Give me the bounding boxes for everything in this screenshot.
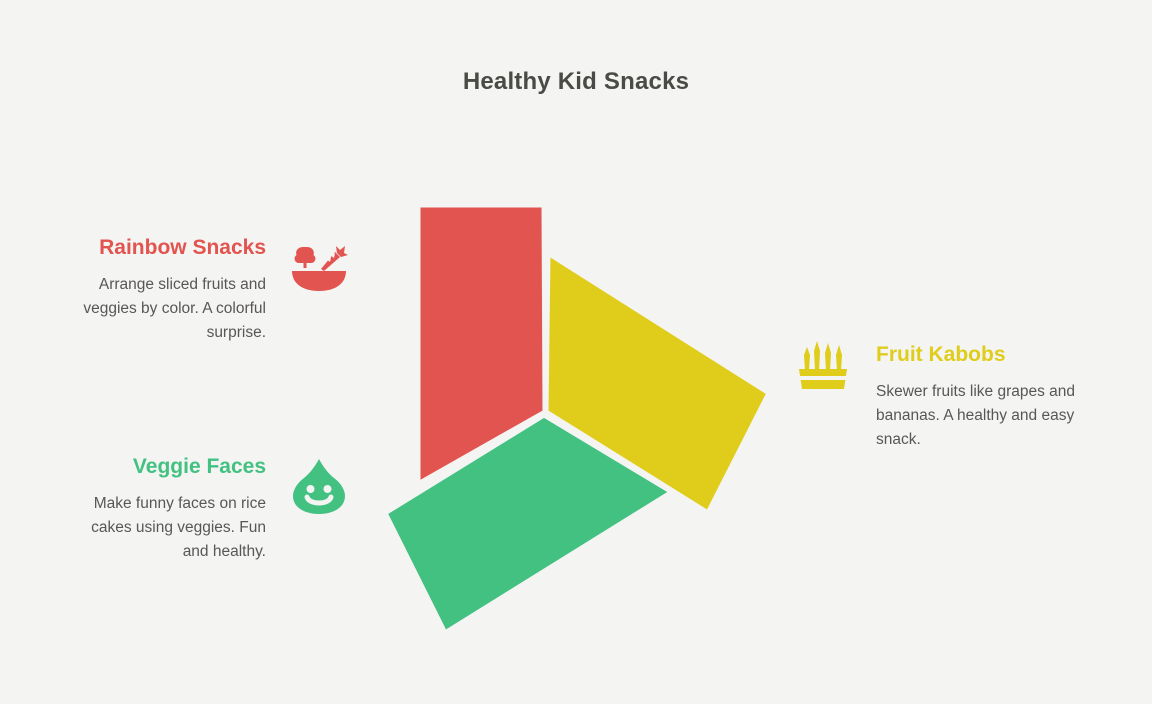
face-veggie-faces (385, 415, 672, 633)
page-title: Healthy Kid Snacks (0, 68, 1152, 96)
item-veggie-faces-heading: Veggie Faces (133, 455, 266, 478)
item-fruit-kabobs[interactable]: Fruit Kabobs Skewer fruits like grapes a… (792, 335, 1122, 452)
item-veggie-faces-description: Make funny faces on rice cakes using veg… (84, 492, 266, 564)
smiling-onion-icon (288, 455, 350, 517)
item-rainbow-snacks-heading: Rainbow Snacks (99, 236, 266, 259)
item-rainbow-snacks-text: Rainbow Snacks Arrange sliced fruits and… (54, 236, 266, 345)
item-fruit-kabobs-heading: Fruit Kabobs (876, 343, 1006, 366)
item-rainbow-snacks-description: Arrange sliced fruits and veggies by col… (54, 273, 266, 345)
face-rainbow-snacks (418, 205, 545, 484)
face-fruit-kabobs (546, 253, 769, 513)
item-rainbow-snacks[interactable]: Rainbow Snacks Arrange sliced fruits and… (20, 236, 350, 345)
salad-bowl-icon (288, 236, 350, 298)
item-veggie-faces-text: Veggie Faces Make funny faces on rice ca… (84, 455, 266, 564)
skewer-basket-icon (792, 335, 854, 397)
item-fruit-kabobs-text: Fruit Kabobs Skewer fruits like grapes a… (876, 335, 1091, 452)
infographic-canvas: Healthy Kid Snacks Rainbow Snacks Arrang… (0, 0, 1152, 704)
item-veggie-faces[interactable]: Veggie Faces Make funny faces on rice ca… (50, 455, 350, 564)
item-fruit-kabobs-description: Skewer fruits like grapes and bananas. A… (876, 380, 1091, 452)
